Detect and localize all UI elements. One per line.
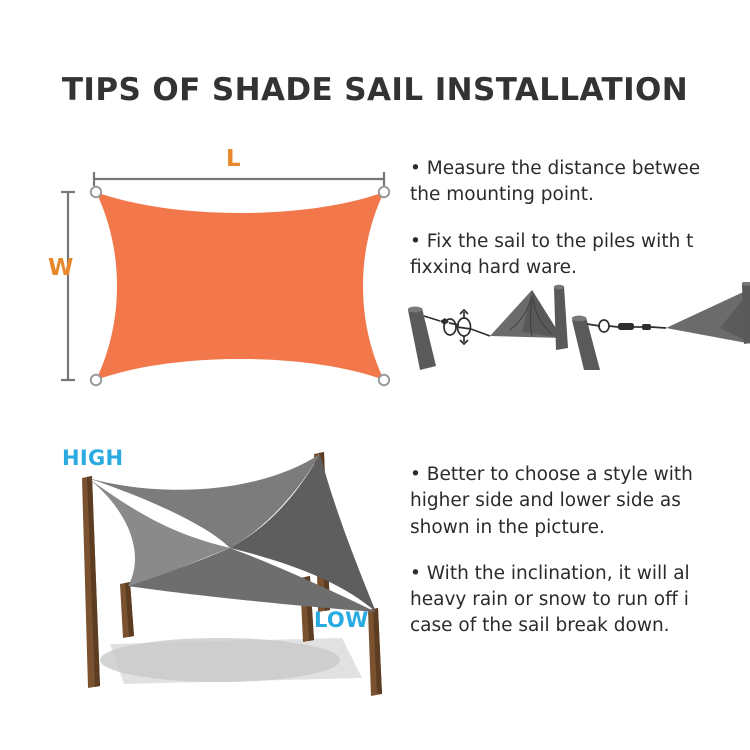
tip-line: • Measure the distance betwee (410, 158, 700, 179)
page-title: TIPS OF SHADE SAIL INSTALLATION (0, 72, 750, 108)
ground-shadow-band (110, 638, 362, 684)
tip-line: • With the inclination, it will al (410, 563, 690, 584)
width-label: W (48, 257, 73, 280)
tip-fix-sail-to-piles: • Fix the sail to the piles with t fixxi… (410, 229, 750, 274)
sail-corner-icon (490, 285, 568, 350)
tip-choose-style: • Better to choose a style with higher s… (410, 462, 750, 541)
tip-line: case of the sail break down. (410, 615, 670, 636)
canopy-scene-diagram: HIGH LOW (42, 442, 404, 704)
tip-line: • Better to choose a style with (410, 464, 693, 485)
tips-bottom-block: • Better to choose a style with higher s… (410, 462, 750, 642)
tip-line: higher side and lower side as (410, 490, 681, 511)
sail-corner-icon (666, 282, 750, 344)
tip-inclination-runoff: • With the inclination, it will al heavy… (410, 561, 750, 640)
tip-line: • Fix the sail to the piles with t (410, 231, 693, 252)
post-high-left (82, 476, 100, 688)
low-side-label: LOW (314, 610, 369, 631)
length-label: L (226, 148, 241, 171)
tip-line: the mounting point. (410, 184, 594, 205)
infographic-page: TIPS OF SHADE SAIL INSTALLATION (0, 0, 750, 750)
sail-shape-svg (52, 142, 397, 392)
post-low-right (368, 608, 382, 696)
high-side-label: HIGH (62, 448, 123, 469)
post-icon (408, 307, 436, 371)
tip-measure-distance: • Measure the distance betwee the mounti… (410, 156, 750, 209)
tips-top-block: • Measure the distance betwee the mounti… (410, 156, 750, 274)
post-icon (572, 316, 600, 371)
tip-line: heavy rain or snow to run off i (410, 589, 689, 610)
post-low-front-left (120, 582, 134, 638)
shade-sail-dimension-diagram: L W (52, 142, 397, 392)
tip-line: fixxing hard ware. (410, 257, 577, 274)
hardware-illustration-left (408, 285, 568, 370)
length-dimension-line (94, 172, 384, 186)
canopy-svg (42, 442, 404, 704)
width-dimension-line (61, 192, 75, 380)
hardware-svg (402, 282, 750, 370)
tip-line: shown in the picture. (410, 517, 605, 538)
hardware-illustration-right (572, 282, 750, 370)
sail-body (96, 192, 384, 380)
turnbuckle-icon (424, 310, 490, 344)
turnbuckle-icon (587, 320, 666, 332)
hardware-illustrations (402, 282, 750, 370)
